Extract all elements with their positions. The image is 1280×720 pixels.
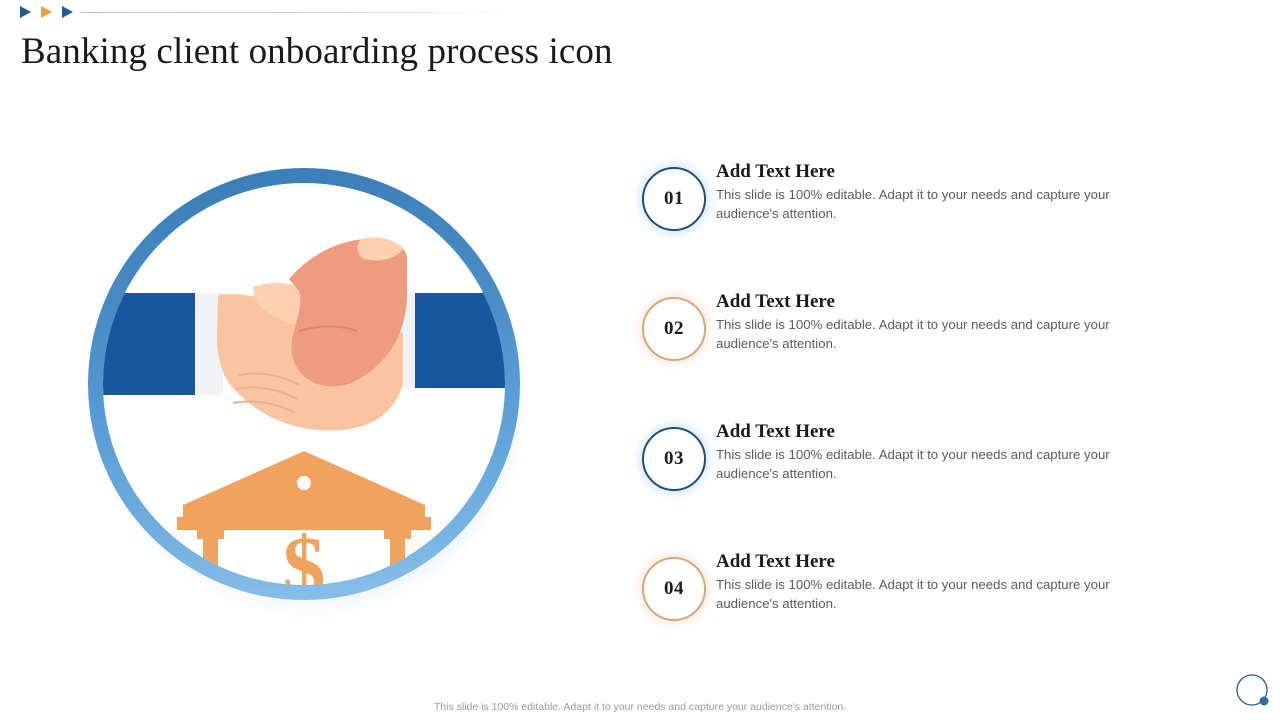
- ring-border: $: [88, 168, 520, 600]
- step-badge-wrap: 04: [641, 556, 707, 622]
- page-title: Banking client onboarding process icon: [21, 29, 613, 75]
- list-item[interactable]: 02 Add Text Here This slide is 100% edit…: [641, 290, 1171, 420]
- step-badge-wrap: 01: [641, 166, 707, 232]
- bank-pediment-dot-icon: [297, 476, 311, 490]
- step-title: Add Text Here: [716, 290, 1166, 314]
- corner-circle-decoration-icon: [1234, 672, 1274, 712]
- step-description: This slide is 100% editable. Adapt it to…: [716, 576, 1158, 613]
- step-title: Add Text Here: [716, 160, 1166, 184]
- bank-column-capital-icon: [384, 530, 411, 539]
- triangle-orange-icon: [41, 6, 52, 18]
- triangle-blue-icon: [62, 6, 73, 18]
- step-title: Add Text Here: [716, 420, 1166, 444]
- step-body: Add Text Here This slide is 100% editabl…: [716, 550, 1166, 613]
- step-description: This slide is 100% editable. Adapt it to…: [716, 316, 1158, 353]
- step-description: This slide is 100% editable. Adapt it to…: [716, 186, 1158, 223]
- list-item[interactable]: 03 Add Text Here This slide is 100% edit…: [641, 420, 1171, 550]
- step-number-badge: 01: [642, 167, 706, 231]
- list-item[interactable]: 04 Add Text Here This slide is 100% edit…: [641, 550, 1171, 680]
- steps-list: 01 Add Text Here This slide is 100% edit…: [641, 160, 1171, 680]
- step-number-badge: 03: [642, 427, 706, 491]
- bank-building-icon: $: [167, 451, 441, 585]
- top-decoration: [20, 4, 521, 20]
- footer-note: This slide is 100% editable. Adapt it to…: [0, 701, 1280, 713]
- decor-divider-line: [81, 12, 521, 13]
- handshake-bank-illustration: $: [88, 168, 528, 620]
- bank-column-capital-icon: [197, 530, 224, 539]
- handshake-bank-artwork: $: [103, 183, 505, 585]
- step-body: Add Text Here This slide is 100% editabl…: [716, 290, 1166, 353]
- right-sleeve-icon: [415, 293, 505, 388]
- step-number-badge: 02: [642, 297, 706, 361]
- step-number-badge: 04: [642, 557, 706, 621]
- step-title: Add Text Here: [716, 550, 1166, 574]
- step-body: Add Text Here This slide is 100% editabl…: [716, 160, 1166, 223]
- ring-inner-surface: $: [103, 183, 505, 585]
- left-sleeve-icon: [103, 293, 195, 395]
- triangle-blue-icon: [20, 6, 31, 18]
- list-item[interactable]: 01 Add Text Here This slide is 100% edit…: [641, 160, 1171, 290]
- step-body: Add Text Here This slide is 100% editabl…: [716, 420, 1166, 483]
- step-badge-wrap: 03: [641, 426, 707, 492]
- bank-dollar-symbol: $: [283, 518, 326, 585]
- step-badge-wrap: 02: [641, 296, 707, 362]
- step-description: This slide is 100% editable. Adapt it to…: [716, 446, 1158, 483]
